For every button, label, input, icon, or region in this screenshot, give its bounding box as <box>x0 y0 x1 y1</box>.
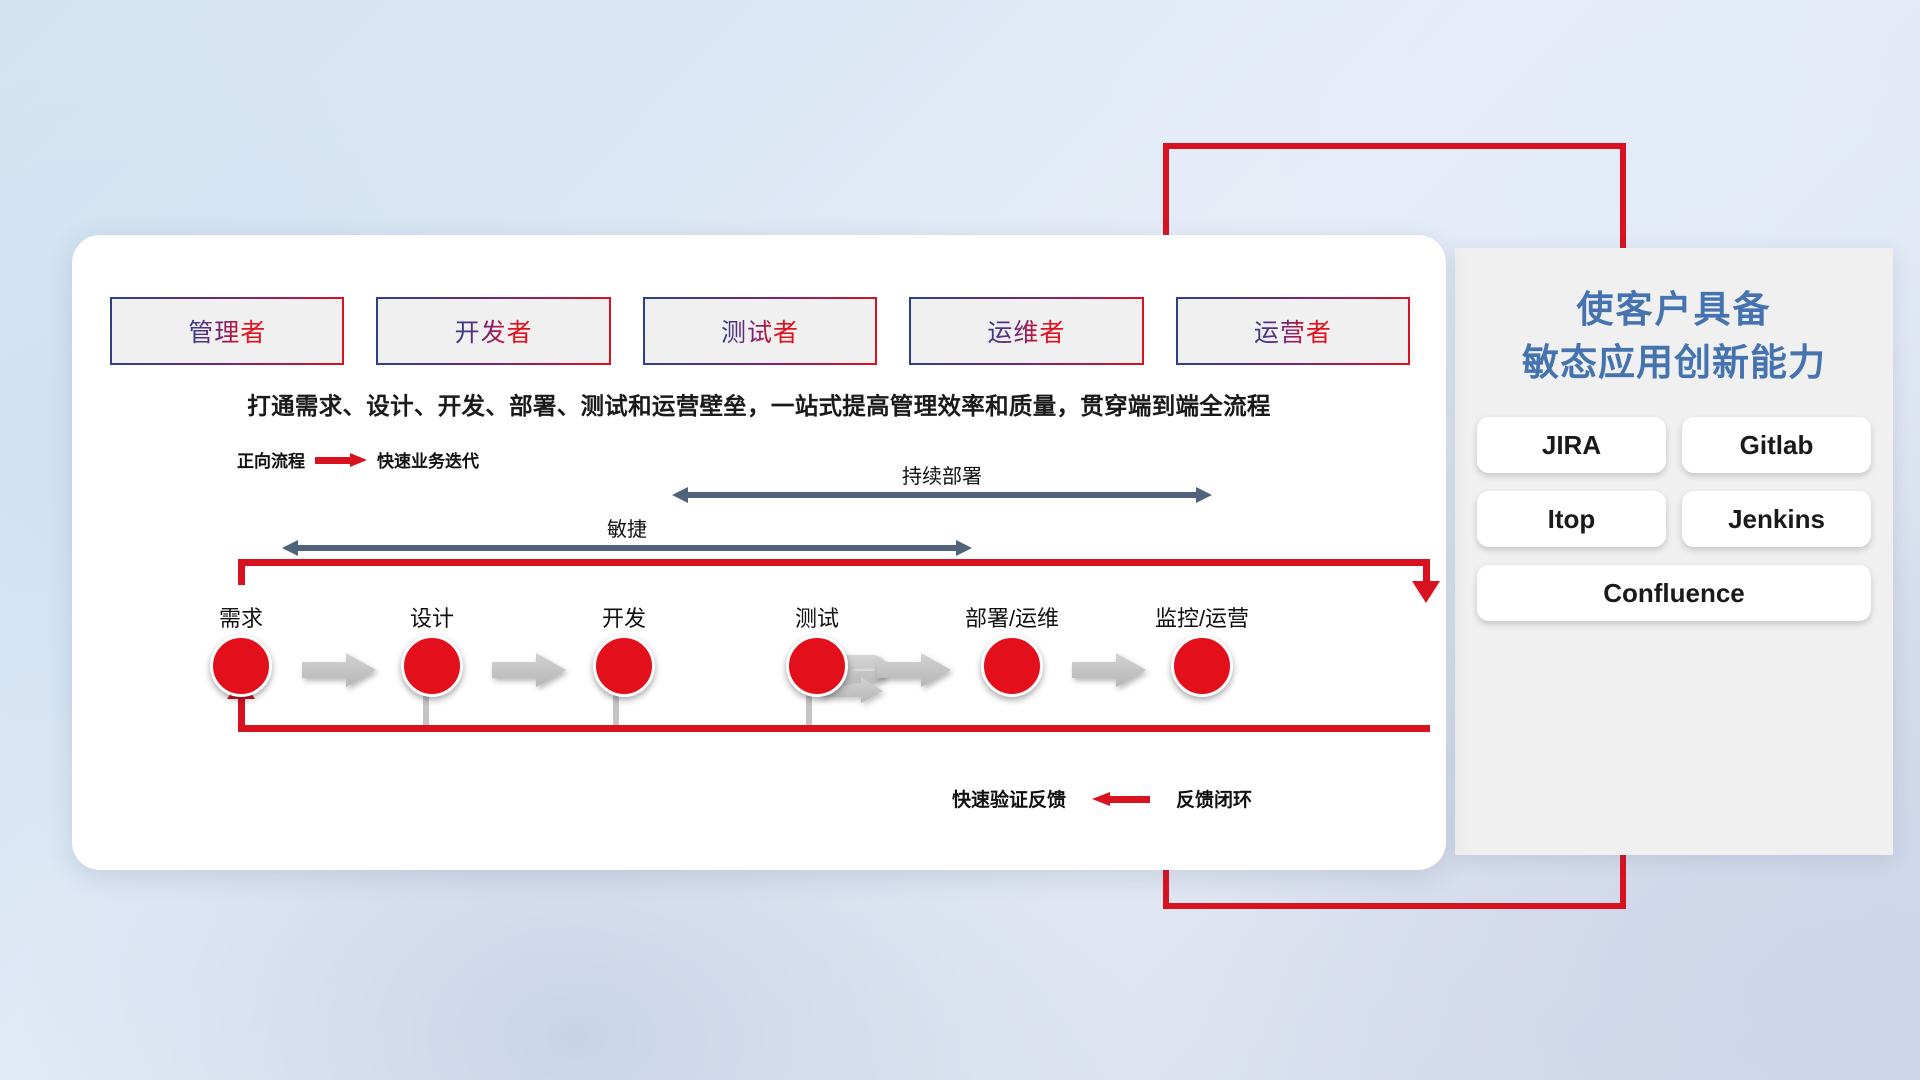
pipeline-node-label: 设计 <box>410 601 454 633</box>
block-arrow-right-icon <box>1072 653 1146 687</box>
role-label: 管理者 <box>188 313 266 349</box>
legend-feedback-right-label: 反馈闭环 <box>1176 785 1252 812</box>
description-text: 打通需求、设计、开发、部署、测试和运营壁垒，一站式提高管理效率和质量，贯穿端到端… <box>72 387 1446 421</box>
tool-chip-jira[interactable]: JIRA <box>1477 417 1666 473</box>
span-label: 敏捷 <box>282 513 972 542</box>
role-box-row: 管理者 开发者 测试者 运维者 运营者 <box>110 297 1410 365</box>
main-content-card: 管理者 开发者 测试者 运维者 运营者 打通需求、设计、开发、部署、测试和运营壁… <box>72 235 1446 870</box>
pipeline-row: 需求 设计 开发 <box>72 605 1446 735</box>
tool-chip-itop[interactable]: Itop <box>1477 491 1666 547</box>
pipeline-node-dot <box>401 635 463 697</box>
role-label: 运维者 <box>987 313 1065 349</box>
legend-forward-left-label: 正向流程 <box>237 447 305 472</box>
role-box-business-operator[interactable]: 运营者 <box>1176 297 1410 365</box>
pipeline-node-label: 需求 <box>219 601 263 633</box>
pipeline-node-dot <box>593 635 655 697</box>
span-continuous-deployment: 持续部署 <box>672 487 1212 503</box>
span-agile: 敏捷 <box>282 540 972 556</box>
arrow-down-red-icon <box>1412 581 1440 603</box>
role-box-manager[interactable]: 管理者 <box>110 297 344 365</box>
bracket-bottom-segment <box>1163 903 1626 909</box>
role-label: 测试者 <box>721 313 799 349</box>
pipeline-node-dot <box>786 635 848 697</box>
legend-forward-right-label: 快速业务迭代 <box>377 447 479 472</box>
capability-panel: 使客户具备 敏态应用创新能力 JIRA Gitlab Itop Jenkins … <box>1455 248 1893 855</box>
pipeline-node-dot <box>981 635 1043 697</box>
pipeline-node-dot <box>1171 635 1233 697</box>
tool-chip-gitlab[interactable]: Gitlab <box>1682 417 1871 473</box>
arrow-right-red-icon <box>315 453 367 467</box>
role-box-tester[interactable]: 测试者 <box>643 297 877 365</box>
feedback-loop-left-upper <box>238 559 245 585</box>
span-label: 持续部署 <box>672 460 1212 489</box>
feedback-loop-right-line <box>1423 559 1430 583</box>
legend-forward-flow: 正向流程 快速业务迭代 <box>237 447 479 472</box>
legend-feedback-left-label: 快速验证反馈 <box>952 785 1066 812</box>
panel-title: 使客户具备 敏态应用创新能力 <box>1477 284 1871 389</box>
arrow-left-red-icon <box>1092 792 1150 806</box>
double-arrow-icon <box>672 487 1212 503</box>
pipeline-node-label: 测试 <box>795 601 839 633</box>
pipeline-node-label: 开发 <box>602 601 646 633</box>
panel-title-line2: 敏态应用创新能力 <box>1477 337 1871 390</box>
pipeline-node-label: 监控/运营 <box>1155 601 1249 633</box>
tool-chip-grid: JIRA Gitlab Itop Jenkins Confluence <box>1477 417 1871 621</box>
role-label: 开发者 <box>455 313 533 349</box>
feedback-loop-top-line <box>238 559 1430 566</box>
panel-title-line1: 使客户具备 <box>1477 284 1871 337</box>
block-arrow-right-icon <box>302 653 376 687</box>
tool-chip-confluence[interactable]: Confluence <box>1477 565 1871 621</box>
block-arrow-right-icon <box>877 653 951 687</box>
role-box-operations-engineer[interactable]: 运维者 <box>909 297 1143 365</box>
role-label: 运营者 <box>1254 313 1332 349</box>
tool-chip-jenkins[interactable]: Jenkins <box>1682 491 1871 547</box>
block-arrow-right-icon <box>492 653 566 687</box>
pipeline-node-dot <box>210 635 272 697</box>
bracket-top-segment <box>1163 143 1626 149</box>
pipeline-node-label: 部署/运维 <box>965 601 1059 633</box>
legend-feedback-loop: 快速验证反馈 反馈闭环 <box>952 785 1252 812</box>
double-arrow-icon <box>282 540 972 556</box>
role-box-developer[interactable]: 开发者 <box>376 297 610 365</box>
